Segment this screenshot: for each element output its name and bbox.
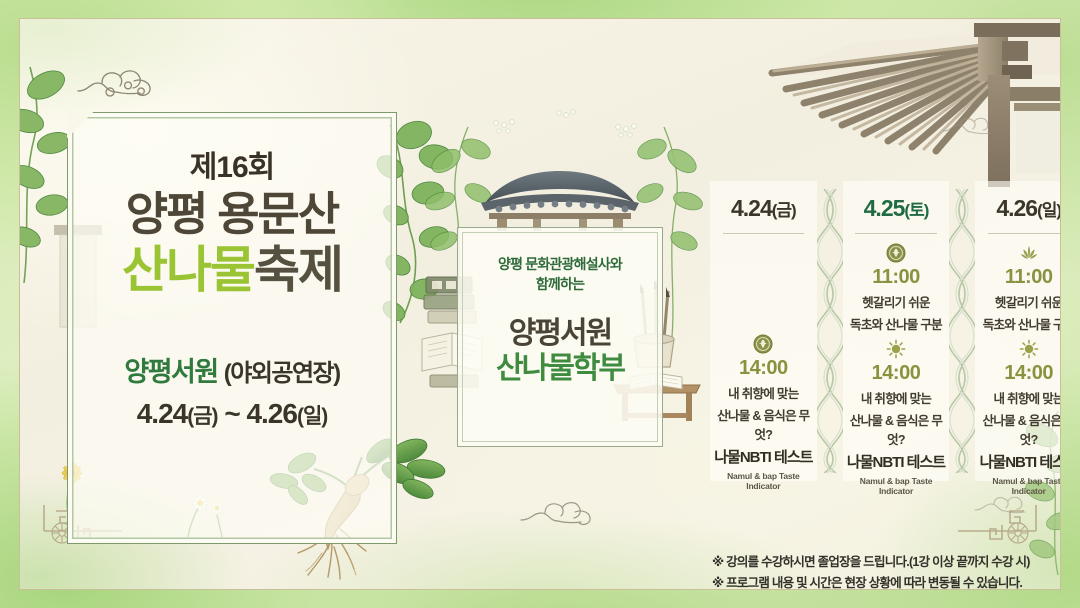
left-title-panel: 제16회 양평 용문산 산나물축제 양평서원 (야외공연장) 4.24(금) ~… — [67, 112, 397, 544]
venue-name: 양평서원 — [124, 357, 217, 387]
schedule-slot-title: 나물NBTI 테스트 — [710, 446, 817, 467]
date-end-weekday: (일) — [297, 405, 327, 428]
schedule-slot-line2: 독초와 산나물 구분 — [975, 314, 1061, 333]
schedule-column-0424: 4.24(금) 14:00 내 취향에 맞 — [710, 181, 817, 481]
braided-lattice-icon — [817, 181, 843, 481]
schedule-slot-time: 11:00 — [975, 266, 1061, 289]
schedule-slot-title: 나물NBTI 테스트 — [843, 451, 950, 472]
date-separator: ~ — [224, 398, 239, 429]
plaque-title-line2: 산나물학부 — [458, 352, 662, 385]
date-start-weekday: (금) — [187, 405, 217, 428]
poster-page: 제16회 양평 용문산 산나물축제 양평서원 (야외공연장) 4.24(금) ~… — [19, 18, 1061, 590]
sun-burst-icon — [1019, 339, 1039, 359]
schedule-slot: 11:00 헷갈리기 쉬운 독초와 산나물 구분 — [843, 243, 950, 333]
schedule-slot-line1: 헷갈리기 쉬운 — [843, 292, 950, 311]
schedule-panel: 4.24(금) 14:00 내 취향에 맞 — [710, 181, 1061, 481]
schedule-slot-line1: 헷갈리기 쉬운 — [975, 292, 1061, 311]
schedule-slot-english: Namul & bap Taste Indicator — [710, 471, 817, 491]
korean-cloud-icon — [72, 61, 162, 103]
schedule-slot-english: Namul & bap Taste Indicator — [975, 476, 1061, 496]
hanok-eaves-icon — [764, 18, 1061, 187]
schedule-spacer — [975, 234, 1061, 243]
schedule-slot-line1: 내 취향에 맞는 — [843, 388, 950, 407]
schedule-slot-line2: 산나물 & 음식은 무엇? — [843, 410, 950, 448]
footer-note-1: ※ 강의를 수강하시면 졸업장을 드립니다.(1강 이상 끝까지 수강 시) — [712, 552, 1061, 573]
plaque-subtitle-line2: 함께하는 — [536, 276, 584, 292]
schedule-slot-title: 나물NBTI 테스트 — [975, 451, 1061, 472]
schedule-spacer — [710, 234, 817, 334]
schedule-slot-line2: 산나물 & 음식은 무엇? — [975, 410, 1061, 448]
title-content: 제16회 양평 용문산 산나물축제 양평서원 (야외공연장) 4.24(금) ~… — [67, 112, 397, 544]
schedule-slot: 14:00 내 취향에 맞는 산나물 & 음식은 무엇? 나물NBTI 테스트 … — [843, 339, 950, 496]
schedule-date-header: 4.26(일) — [975, 197, 1061, 220]
center-plaque-panel: 양평 문화관광해설사와 함께하는 양평서원 산나물학부 — [435, 169, 685, 469]
schedule-slot-line1: 내 취향에 맞는 — [975, 388, 1061, 407]
schedule-slot-line1: 내 취향에 맞는 — [710, 383, 817, 402]
medallion-badge-icon — [886, 243, 906, 263]
festival-date-range: 4.24(금) ~ 4.26(일) — [67, 398, 397, 430]
schedule-date-header: 4.25(토) — [843, 197, 950, 220]
schedule-date: 4.25 — [864, 195, 905, 221]
schedule-column-0426: 4.26(일) — [975, 181, 1061, 481]
festival-title-line2: 산나물축제 — [67, 243, 397, 298]
schedule-weekday: (일) — [1037, 201, 1061, 220]
sun-burst-icon — [886, 339, 906, 359]
schedule-slot: 11:00 헷갈리기 쉬운 독초와 산나물 구분 — [975, 243, 1061, 333]
schedule-slot-time: 14:00 — [710, 357, 817, 380]
korean-cloud-icon — [517, 493, 601, 531]
schedule-spacer — [843, 234, 950, 243]
footer-notes: ※ 강의를 수강하시면 졸업장을 드립니다.(1강 이상 끝까지 수강 시) ※… — [712, 552, 1061, 590]
venue-line: 양평서원 (야외공연장) — [67, 350, 397, 389]
schedule-column-0425: 4.25(토) 11:00 헷갈리기 쉬운 — [843, 181, 950, 481]
korean-cloud-icon — [940, 111, 1000, 139]
edition-label: 제16회 — [67, 153, 397, 183]
schedule-slot-time: 11:00 — [843, 266, 950, 289]
festival-poster: 제16회 양평 용문산 산나물축제 양평서원 (야외공연장) 4.24(금) ~… — [0, 0, 1080, 608]
date-end: 4.26 — [246, 398, 297, 429]
plaque-title-line1: 양평서원 — [458, 317, 662, 350]
schedule-slot-english: Namul & bap Taste Indicator — [843, 476, 950, 496]
festival-title-dark: 축제 — [254, 242, 342, 298]
date-start: 4.24 — [137, 398, 188, 429]
schedule-date-header: 4.24(금) — [710, 197, 817, 220]
leaf-sprout-icon — [1019, 243, 1039, 263]
plaque-board: 양평 문화관광해설사와 함께하는 양평서원 산나물학부 — [457, 227, 663, 447]
braided-lattice-icon — [949, 181, 975, 481]
festival-title-green: 산나물 — [122, 242, 254, 298]
schedule-weekday: (토) — [904, 201, 928, 220]
footer-note-2: ※ 프로그램 내용 및 시간은 현장 상황에 따라 변동될 수 있습니다. — [712, 573, 1061, 590]
schedule-slot-time: 14:00 — [843, 362, 950, 385]
festival-title-line1: 양평 용문산 — [67, 189, 397, 241]
venue-detail: (야외공연장) — [224, 360, 340, 387]
schedule-slot-line2: 산나물 & 음식은 무엇? — [710, 405, 817, 443]
hanok-roof-icon — [475, 169, 645, 231]
schedule-weekday: (금) — [772, 201, 796, 220]
schedule-slot: 14:00 내 취향에 맞는 산나물 & 음식은 무엇? 나물NBTI 테스트 … — [975, 339, 1061, 496]
schedule-date: 4.26 — [996, 195, 1037, 221]
schedule-slot-line2: 독초와 산나물 구분 — [843, 314, 950, 333]
medallion-badge-icon — [753, 334, 773, 354]
schedule-date: 4.24 — [731, 195, 772, 221]
schedule-slot-time: 14:00 — [975, 362, 1061, 385]
schedule-slot: 14:00 내 취향에 맞는 산나물 & 음식은 무엇? 나물NBTI 테스트 … — [710, 334, 817, 491]
plaque-subtitle: 양평 문화관광해설사와 함께하는 — [458, 254, 662, 295]
plaque-subtitle-line1: 양평 문화관광해설사와 — [498, 256, 622, 272]
